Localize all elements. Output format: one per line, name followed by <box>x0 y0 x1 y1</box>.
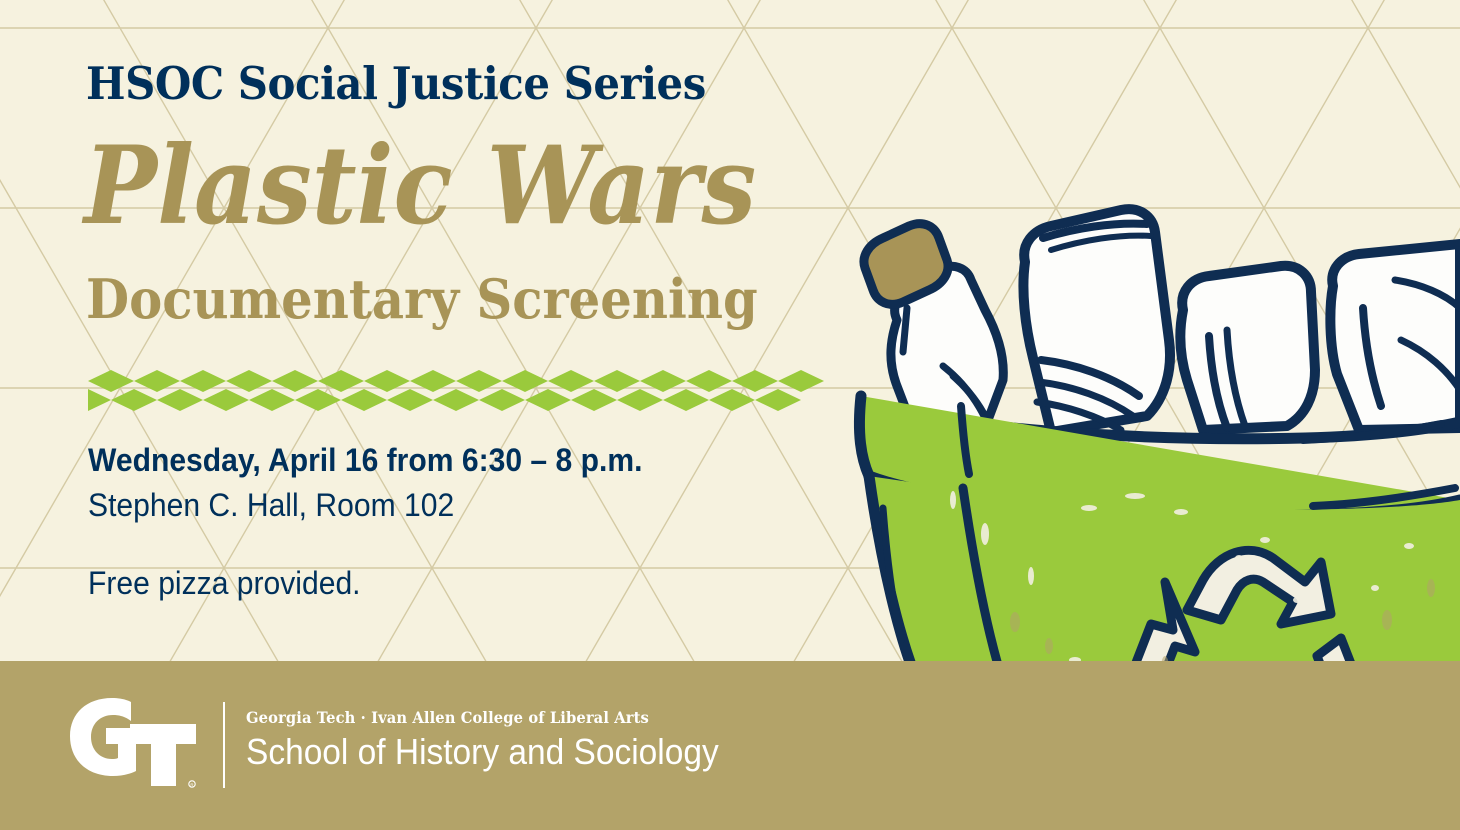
event-location: Stephen C. Hall, Room 102 <box>88 485 642 526</box>
parent-unit-name: Georgia Tech · Ivan Allen College of Lib… <box>246 708 714 727</box>
poster-subtitle: Documentary Screening <box>86 272 758 326</box>
svg-text:R: R <box>190 783 193 788</box>
page-title: Plastic Wars <box>84 132 756 240</box>
event-details: Wednesday, April 16 from 6:30 – 8 p.m. S… <box>88 440 678 526</box>
event-poster: HSOC Social Justice Series Plastic Wars … <box>0 0 1460 830</box>
georgia-tech-gt-monogram-logo: R <box>68 698 198 790</box>
school-name: School of History and Sociology <box>246 731 719 773</box>
series-kicker: HSOC Social Justice Series <box>86 57 706 110</box>
footer-identity: Georgia Tech · Ivan Allen College of Lib… <box>246 708 754 774</box>
diamond-divider <box>88 368 828 414</box>
footer-divider-rule <box>223 702 225 788</box>
event-extra-note: Free pizza provided. <box>88 565 361 602</box>
poster-content: HSOC Social Justice Series Plastic Wars … <box>0 0 880 661</box>
event-datetime: Wednesday, April 16 from 6:30 – 8 p.m. <box>88 440 642 481</box>
